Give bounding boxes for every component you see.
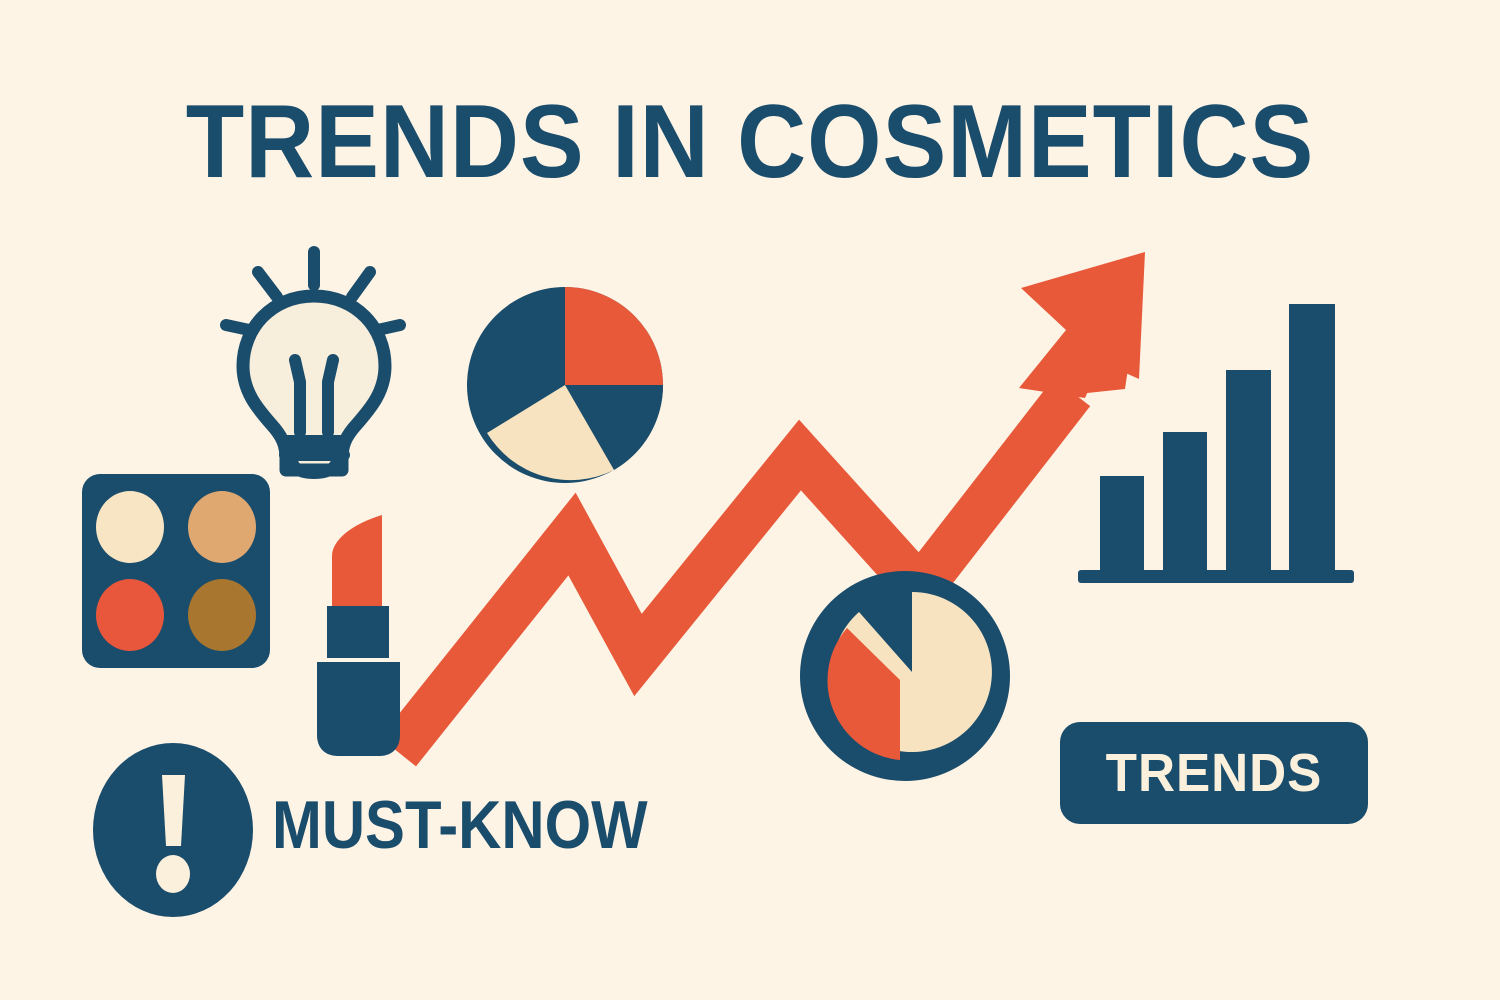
exclamation-dot xyxy=(156,855,190,893)
lipstick-collar xyxy=(327,606,389,658)
exclamation-circle-icon xyxy=(93,743,253,917)
palette-swatch-brown xyxy=(188,579,256,651)
lipstick-icon xyxy=(317,515,400,756)
palette-swatch-cream xyxy=(96,491,164,563)
lipstick-base xyxy=(317,662,400,756)
lightbulb-ray-upper-right xyxy=(352,272,370,297)
infographic-poster: TRENDS IN COSMETICS MUST-KNOW TRENDS xyxy=(0,0,1500,1000)
lightbulb-icon xyxy=(226,252,400,473)
bar-1 xyxy=(1100,476,1144,572)
bar-3 xyxy=(1226,370,1271,572)
exclamation-stem xyxy=(162,775,185,846)
page-title: TRENDS IN COSMETICS xyxy=(60,88,1440,197)
palette-swatch-orange xyxy=(96,579,164,651)
must-know-label: MUST-KNOW xyxy=(272,786,648,864)
bar-4 xyxy=(1289,304,1335,572)
lipstick-tip xyxy=(332,515,382,608)
circle-pie-chart xyxy=(800,571,1010,781)
pie-slice-segment-a xyxy=(565,287,663,385)
bar-chart-baseline xyxy=(1078,570,1354,583)
palette-swatch-tan xyxy=(188,491,256,563)
makeup-palette-icon xyxy=(82,474,270,668)
trends-badge[interactable] xyxy=(1060,722,1368,824)
top-pie-chart xyxy=(467,287,663,483)
bar-2 xyxy=(1163,432,1207,572)
lightbulb-ray-upper-left xyxy=(258,272,277,297)
